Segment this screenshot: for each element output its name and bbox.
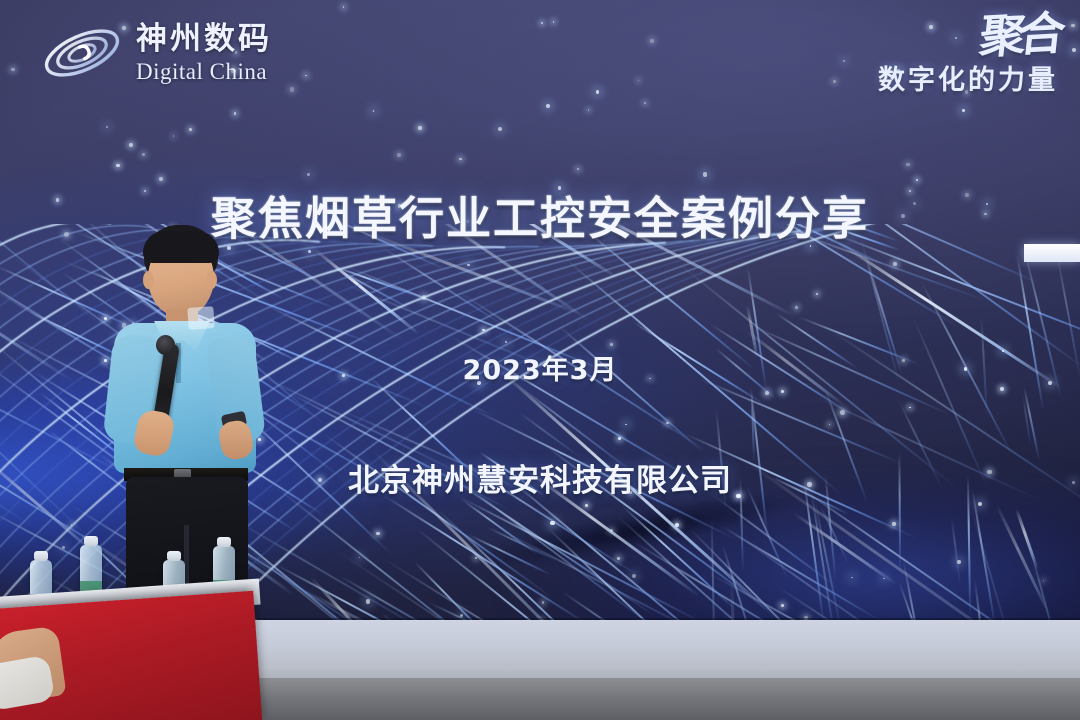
speaker-fringe	[143, 231, 219, 263]
bottle-cap	[217, 537, 231, 547]
brand-name-en: Digital China	[136, 60, 272, 83]
speaker-figure	[96, 225, 276, 625]
shirt-logo-icon	[187, 306, 214, 330]
event-logo: 聚合 数字化的力量	[878, 16, 1058, 97]
brand-name-cn: 神州数码	[136, 24, 272, 55]
photo-canvas: 神州数码 Digital China 聚合 数字化的力量 聚焦烟草行业工控安全案…	[0, 0, 1080, 720]
swirl-galaxy-icon	[40, 18, 124, 88]
bottle-cap	[34, 551, 48, 561]
speaker-ear-left	[143, 271, 154, 289]
event-tagline: 数字化的力量	[878, 58, 1058, 97]
event-mark-text: 聚合	[978, 14, 1061, 58]
bottle-cap	[84, 536, 98, 546]
digital-china-logo: 神州数码 Digital China	[40, 18, 272, 88]
bottle-cap	[167, 551, 181, 561]
digital-china-wordmark: 神州数码 Digital China	[136, 24, 272, 83]
speaker-ear-right	[206, 271, 217, 289]
